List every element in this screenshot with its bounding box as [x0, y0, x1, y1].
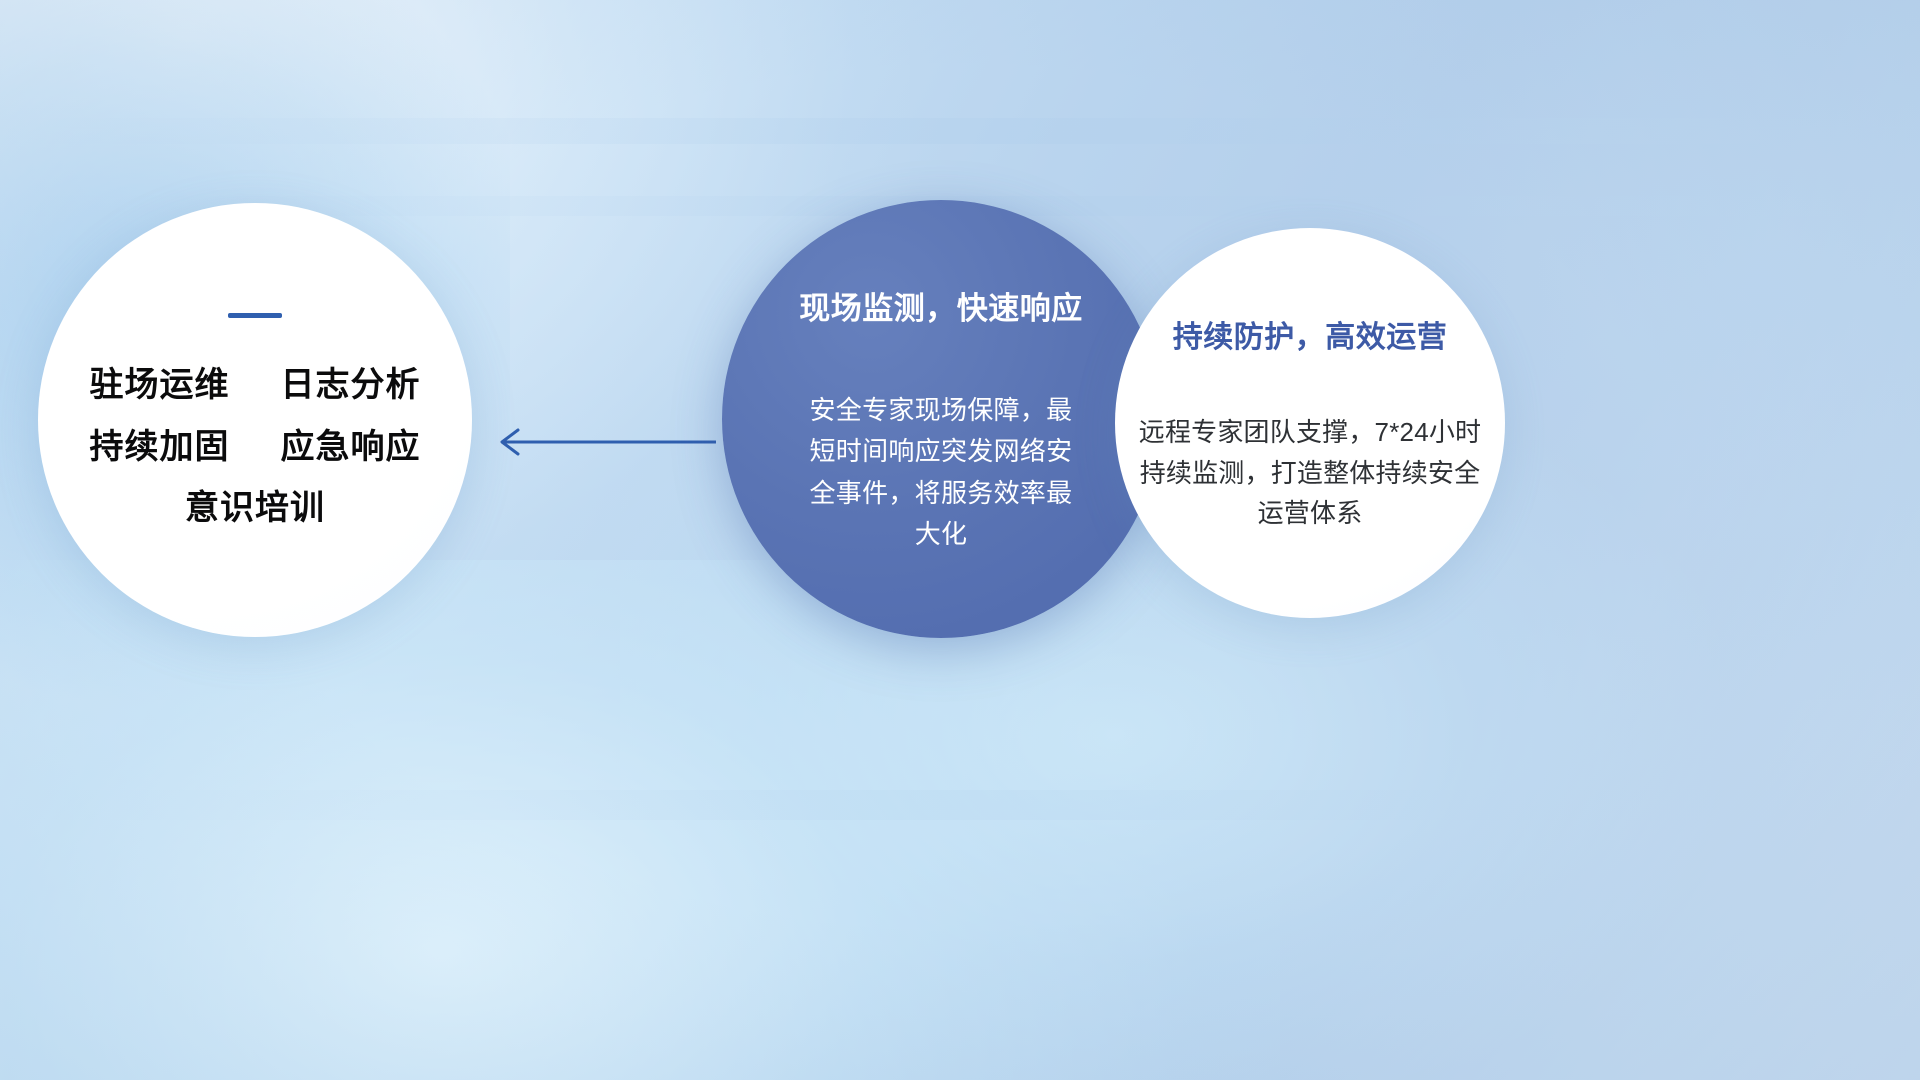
capability-list: 驻场运维 日志分析 持续加固 应急响应 意识培训 [90, 368, 421, 527]
right-card-title: 持续防护，高效运营 [1173, 312, 1448, 356]
capability-circle-middle[interactable]: 现场监测，快速响应 安全专家现场保障，最短时间响应突发网络安全事件，将服务效率最… [722, 200, 1160, 638]
horizontal-dash-divider [228, 313, 282, 318]
right-card-body: 远程专家团队支撑，7*24小时持续监测，打造整体持续安全运营体系 [1137, 412, 1483, 534]
capability-item: 日志分析 [280, 366, 420, 404]
capability-row: 驻场运维 日志分析 [90, 368, 421, 404]
capability-item: 意识培训 [185, 489, 325, 527]
capability-circle-right[interactable]: 持续防护，高效运营 远程专家团队支撑，7*24小时持续监测，打造整体持续安全运营… [1115, 228, 1505, 618]
capability-item: 驻场运维 [90, 366, 230, 404]
capability-circle-left[interactable]: 驻场运维 日志分析 持续加固 应急响应 意识培训 [38, 203, 472, 637]
middle-card-title: 现场监测，快速响应 [799, 283, 1083, 328]
capability-row: 意识培训 [90, 491, 421, 527]
capability-row: 持续加固 应急响应 [90, 430, 421, 466]
capability-item: 持续加固 [90, 428, 230, 466]
capability-item: 应急响应 [280, 428, 420, 466]
left-arrow-icon [488, 412, 718, 472]
middle-card-body: 安全专家现场保障，最短时间响应突发网络安全事件，将服务效率最大化 [799, 390, 1084, 554]
slide-canvas: 驻场运维 日志分析 持续加固 应急响应 意识培训 现场监测，快速响应 安全专家现… [0, 0, 1920, 1080]
